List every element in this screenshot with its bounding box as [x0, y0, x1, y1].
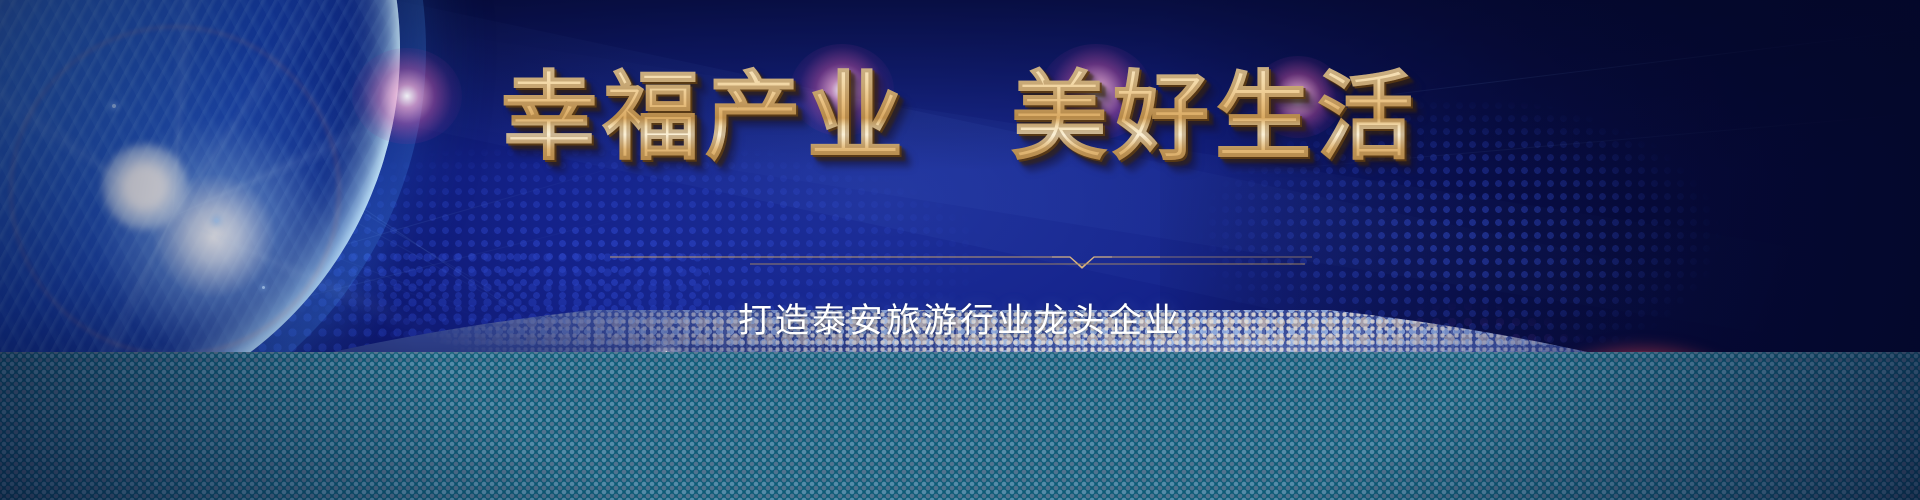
- sky-vignette: [0, 0, 1920, 500]
- hero-banner: 幸福产业 美好生活 打造泰安旅游行业龙头企业: [0, 0, 1920, 500]
